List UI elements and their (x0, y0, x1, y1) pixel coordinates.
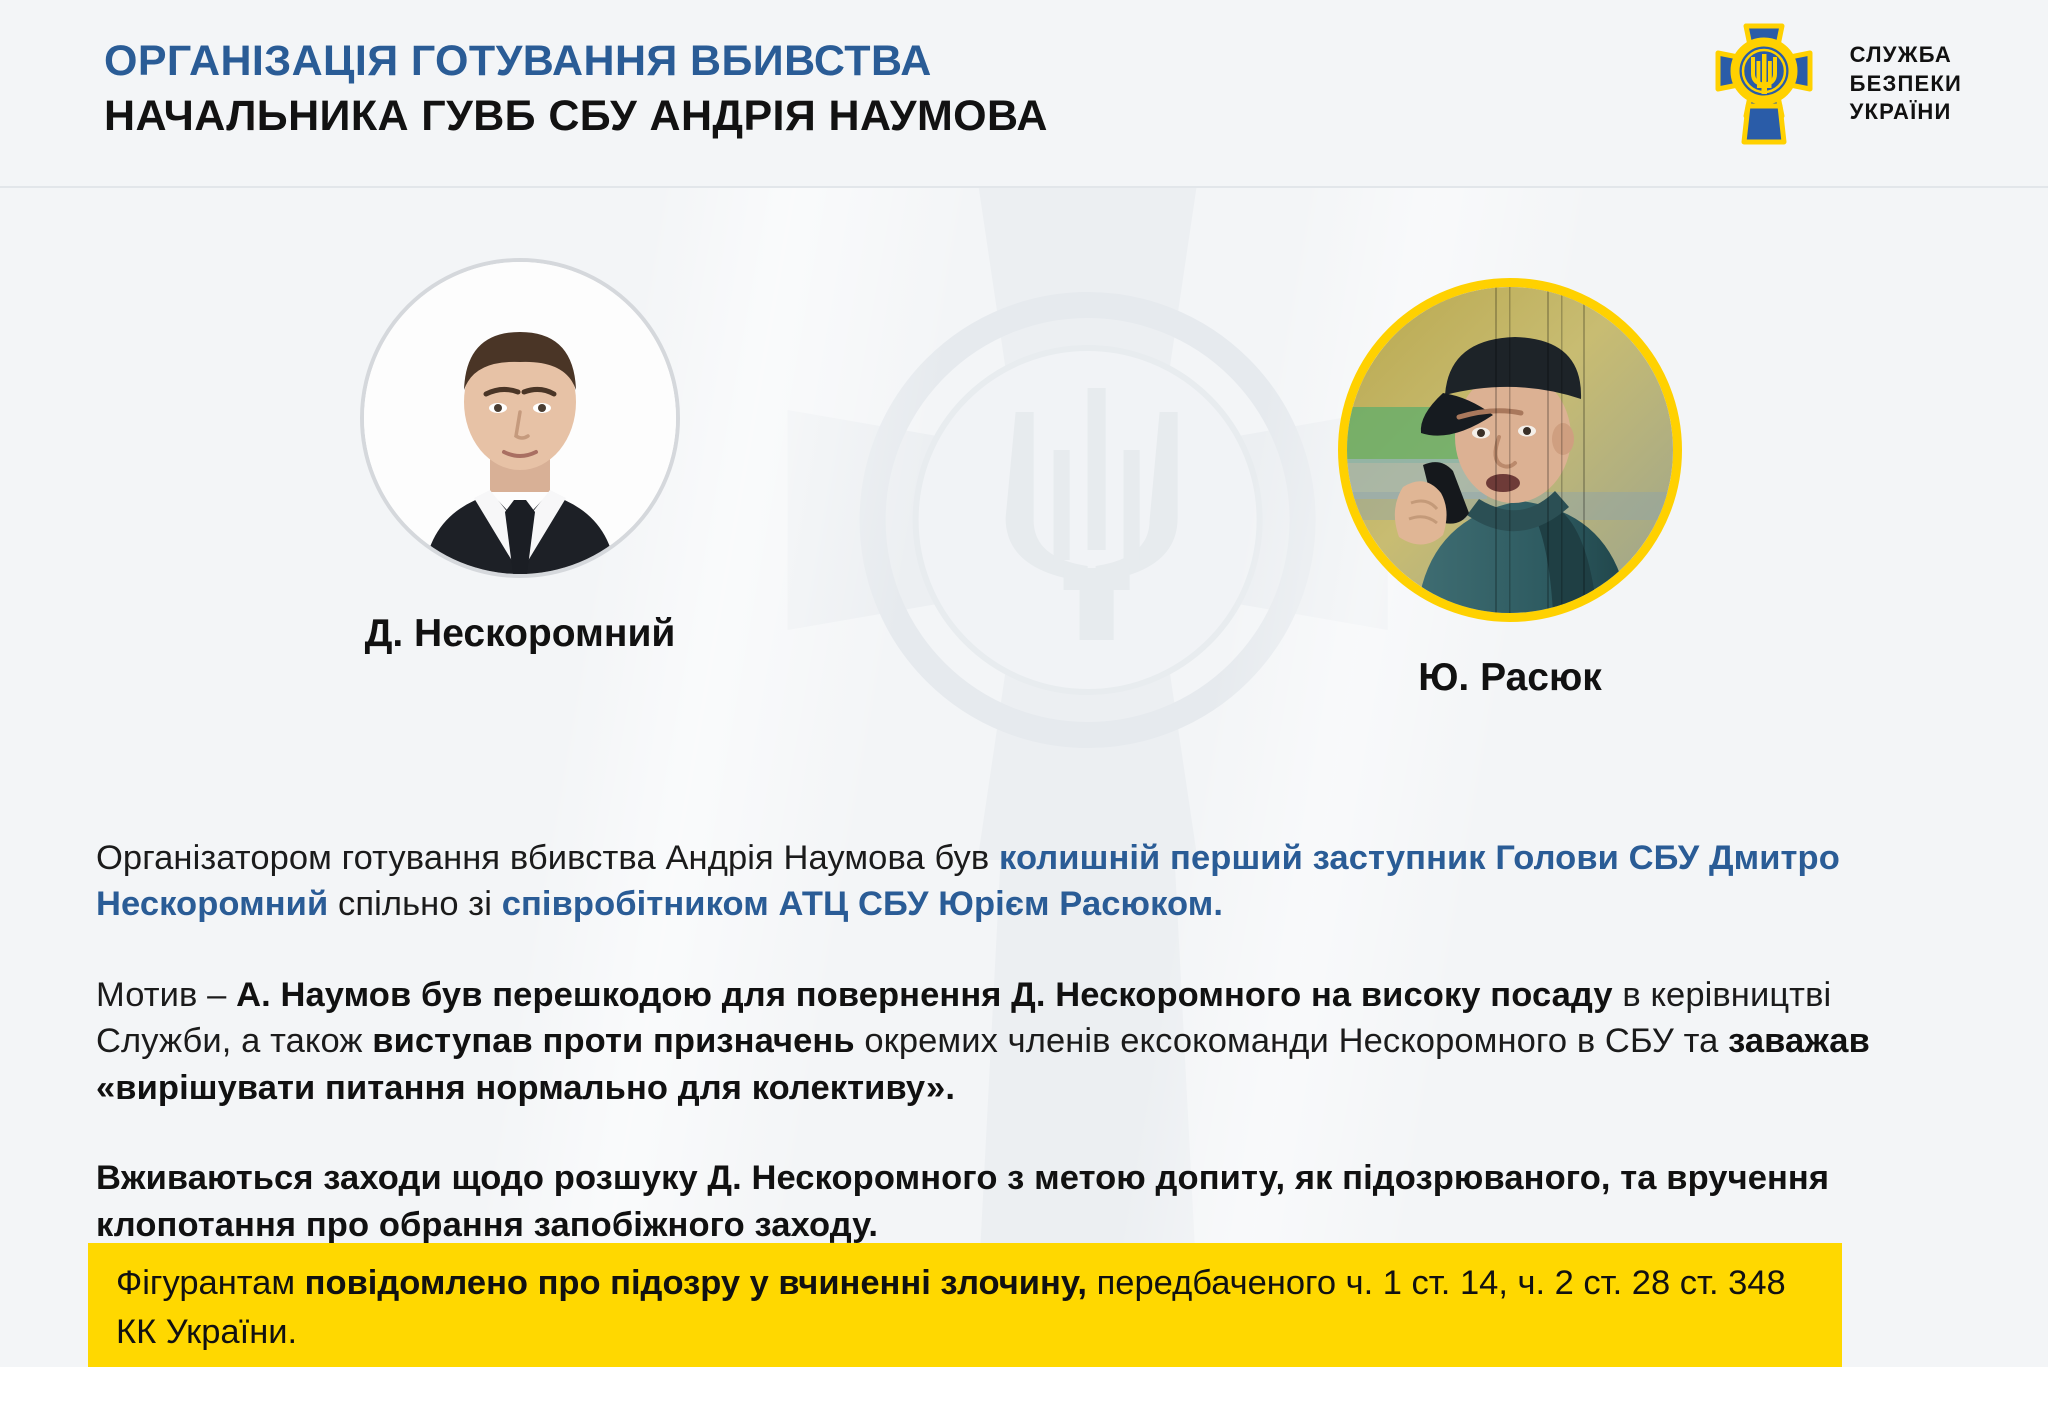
sbu-cross-icon (1700, 20, 1828, 148)
paragraph-search-measures: Вживаються заходи щодо розшуку Д. Нескор… (96, 1155, 1936, 1248)
bottom-strip (0, 1367, 2048, 1417)
person-name-neskoromnyi: Д. Нескоромний (270, 612, 770, 656)
logo-text-line-1: СЛУЖБА (1850, 41, 1962, 70)
charges-banner: Фігурантам повідомлено про підозру у вчи… (88, 1243, 1842, 1367)
avatar-neskoromnyi (360, 258, 680, 578)
run-text: окремих членів ексокоманди Нескоромного … (855, 1022, 1728, 1060)
run-text: Мотив – (96, 976, 236, 1014)
sbu-logo: СЛУЖБА БЕЗПЕКИ УКРАЇНИ (1700, 20, 1962, 148)
run-text: Фігурантам (116, 1264, 305, 1302)
logo-text-line-3: УКРАЇНИ (1850, 98, 1962, 127)
infographic-poster: ОРГАНІЗАЦІЯ ГОТУВАННЯ ВБИВСТВА НАЧАЛЬНИК… (0, 0, 2048, 1417)
body-copy: Організатором готування вбивства Андрія … (96, 800, 1936, 1283)
page-title: ОРГАНІЗАЦІЯ ГОТУВАННЯ ВБИВСТВА НАЧАЛЬНИК… (104, 36, 1048, 141)
person-name-rasiuk: Ю. Расюк (1290, 656, 1730, 700)
run-text-bold: повідомлено про підозру у вчиненні злочи… (305, 1264, 1087, 1302)
surveillance-photo-rasiuk (1347, 287, 1673, 613)
run-text-bold: А. Наумов був перешкодою для повернення … (236, 976, 1613, 1014)
person-card-neskoromnyi: Д. Нескоромний (270, 258, 770, 656)
charges-banner-text: Фігурантам повідомлено про підозру у вчи… (116, 1259, 1814, 1357)
run-text: Організатором готування вбивства Андрія … (96, 839, 999, 877)
sbu-logo-text: СЛУЖБА БЕЗПЕКИ УКРАЇНИ (1850, 41, 1962, 127)
run-text-highlight: співробітником АТЦ СБУ Юрієм Расюком. (502, 885, 1223, 923)
run-text-bold: Вживаються заходи щодо розшуку Д. Нескор… (96, 1159, 1829, 1244)
paragraph-organizer: Організатором готування вбивства Андрія … (96, 835, 1936, 928)
run-text: спільно зі (328, 885, 501, 923)
title-line-secondary: НАЧАЛЬНИКА ГУВБ СБУ АНДРІЯ НАУМОВА (104, 91, 1048, 142)
logo-text-line-2: БЕЗПЕКИ (1850, 70, 1962, 99)
paragraph-motive: Мотив – А. Наумов був перешкодою для пов… (96, 972, 1936, 1112)
poster-header: ОРГАНІЗАЦІЯ ГОТУВАННЯ ВБИВСТВА НАЧАЛЬНИК… (0, 0, 2048, 188)
avatar-rasiuk (1338, 278, 1682, 622)
person-card-rasiuk: Ю. Расюк (1290, 278, 1730, 700)
title-line-primary: ОРГАНІЗАЦІЯ ГОТУВАННЯ ВБИВСТВА (104, 36, 1048, 87)
portrait-photo-neskoromnyi (364, 262, 676, 574)
run-text-bold: виступав проти призначень (372, 1022, 854, 1060)
